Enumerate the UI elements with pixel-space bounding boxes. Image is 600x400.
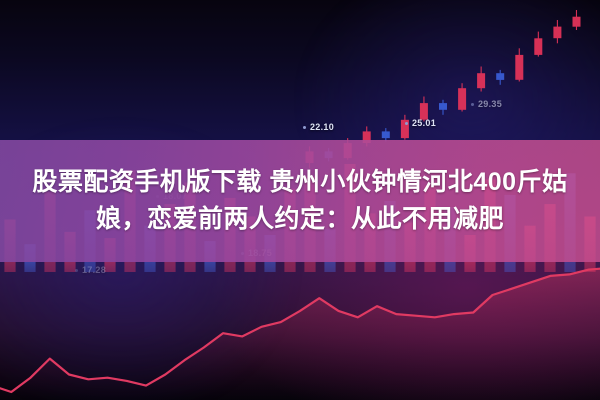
label-17-28: 17.28 bbox=[82, 265, 106, 275]
headline-line-2: 娘，恋爱前两人约定：从此不用减肥 bbox=[96, 205, 504, 234]
candlestick bbox=[401, 115, 409, 140]
candlestick bbox=[573, 10, 581, 30]
headline: 股票配资手机版下载 贵州小伙钟情河北400斤姑 娘，恋爱前两人约定：从此不用减肥 bbox=[0, 140, 600, 262]
candlestick bbox=[515, 48, 523, 81]
label-22-10: 22.10 bbox=[310, 122, 334, 132]
candlestick bbox=[534, 32, 542, 57]
label-25-01: 25.01 bbox=[412, 118, 436, 128]
headline-line-1: 股票配资手机版下载 贵州小伙钟情河北400斤姑 bbox=[32, 168, 567, 197]
candlestick bbox=[496, 70, 504, 85]
label-29-35: 29.35 bbox=[478, 99, 502, 109]
candlestick bbox=[553, 20, 561, 43]
promo-banner: 22.1025.0129.3518.7518.0717.28 股票配资手机版下载… bbox=[0, 0, 600, 400]
candlestick bbox=[477, 67, 485, 92]
candlestick bbox=[458, 83, 466, 111]
candlestick bbox=[439, 100, 447, 115]
